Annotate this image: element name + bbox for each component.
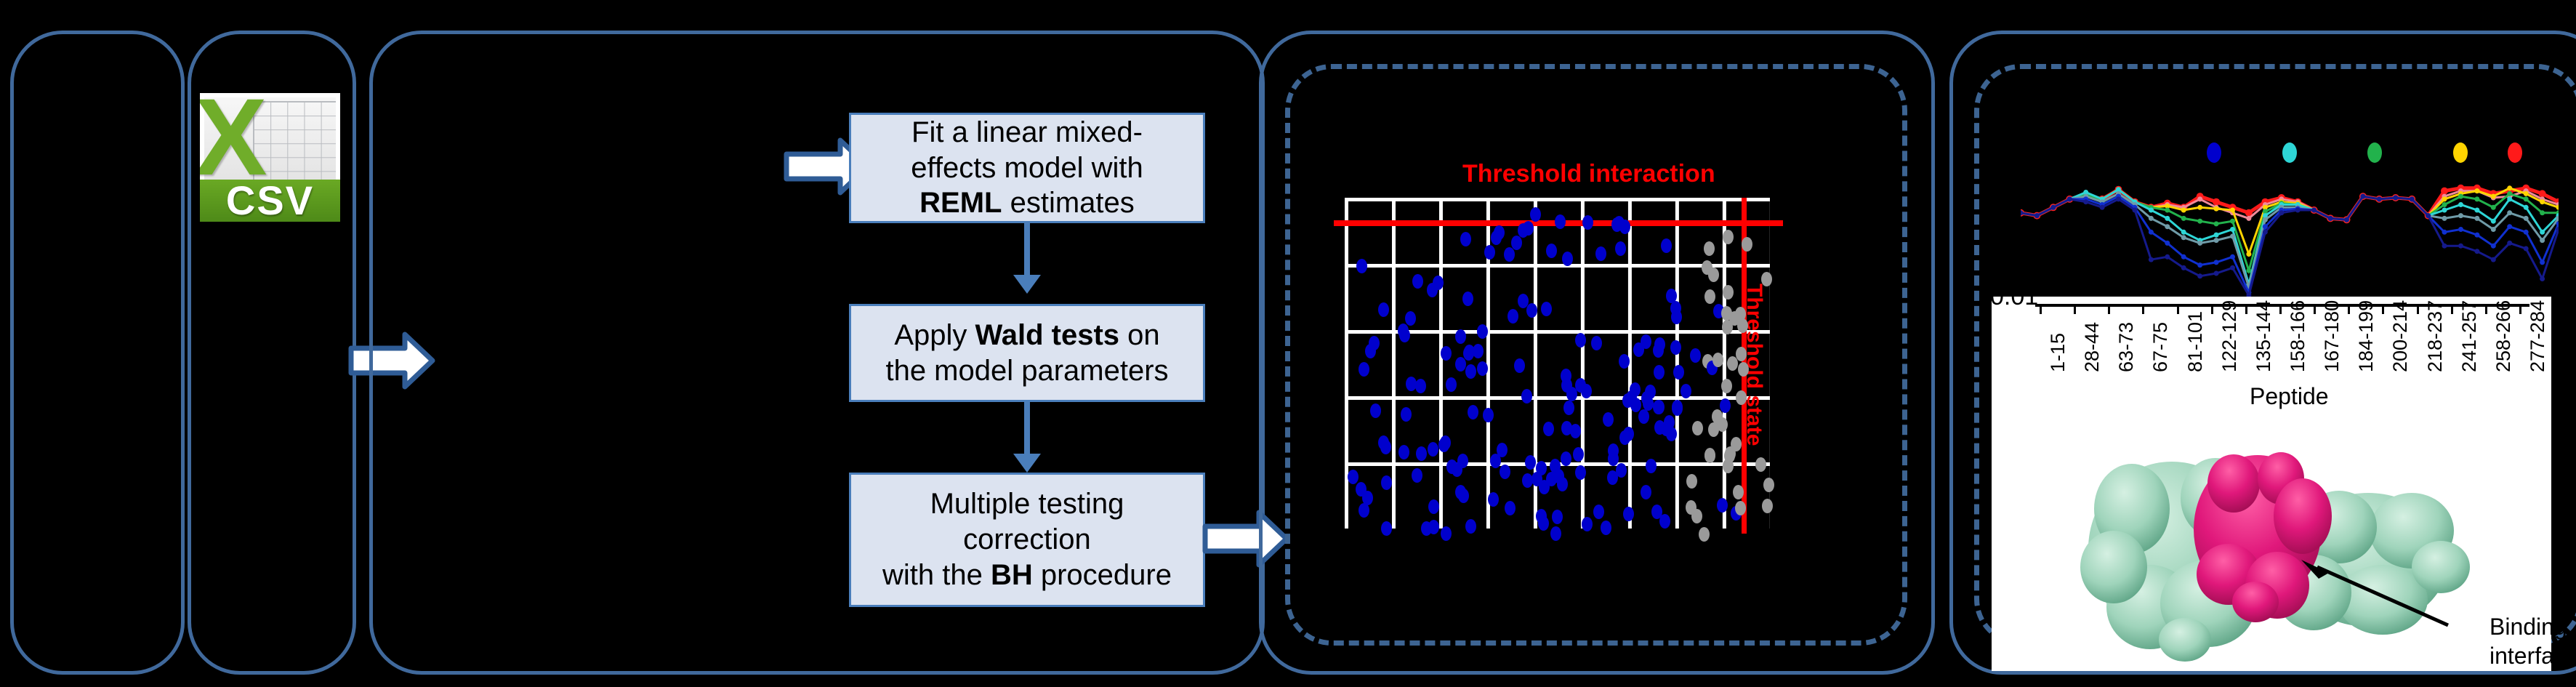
line-marker [2360,194,2365,199]
line-marker [2214,233,2219,238]
line-marker [2474,249,2479,254]
scatter-point [1458,489,1469,503]
scatter-point [1673,365,1684,379]
line-marker [2181,254,2186,260]
line-marker [2507,210,2512,215]
line-marker [2213,198,2220,206]
step-fit-model-box[interactable]: Fit a linear mixed- effects model with R… [849,113,1205,223]
scatter-point [1552,510,1563,524]
peptide-tick-label: 277-284 [2527,300,2549,372]
scatter-point [1691,509,1702,523]
line-marker [2230,219,2235,224]
scatter-point [1762,499,1773,513]
scatter-point [1681,384,1691,398]
line-marker [2230,254,2235,260]
x-axis-tick [2519,305,2521,314]
legend-dot-3 [2367,142,2382,163]
scatter-point [1623,507,1634,521]
scatter-point [1483,408,1494,422]
scatter-point [1573,447,1584,462]
scatter-point [1421,521,1432,536]
legend-dot-2 [2282,142,2297,163]
line-marker [2311,208,2317,213]
line-marker [2067,196,2072,201]
scatter-point [1704,289,1715,304]
line-marker [2474,188,2479,193]
line-marker [2426,213,2431,218]
line-marker [2263,230,2268,235]
x-axis-tick [2382,305,2384,314]
line-marker [2507,224,2512,229]
line-marker [2377,196,2382,201]
line-marker [2540,199,2545,204]
scatter-point [1661,238,1672,253]
line-marker [2524,205,2529,210]
line-marker [2458,194,2463,199]
x-axis-tick [2211,305,2213,314]
peptide-response-line-chart [2021,167,2559,298]
line-marker [2540,276,2545,281]
line-marker [2165,254,2170,260]
line-marker [2197,273,2202,278]
step3-line2: correction [963,523,1091,555]
x-axis-tick [2314,305,2316,314]
csv-file-icon: X CSV [200,93,340,222]
line-marker [2507,196,2512,201]
line-marker [2474,208,2479,213]
line-marker [2441,188,2448,195]
csv-label-text: CSV [226,177,314,222]
excel-x-glyph: X [204,97,257,177]
scatter-point [1654,400,1665,414]
scatter-point [1504,247,1515,262]
line-marker [2442,208,2447,213]
x-axis-tick [2245,305,2247,314]
scatter-point [1348,470,1359,484]
scatter-point [1446,377,1457,392]
line-marker [2507,185,2512,190]
line-marker [2116,196,2121,201]
x-axis-tick [2417,305,2419,314]
peptide-tick-label: 1-15 [2047,333,2069,372]
line-marker [2050,205,2056,210]
x-axis-tick [2142,305,2144,314]
line-marker [2474,233,2479,238]
peptide-tick-label: 241-257 [2458,300,2481,372]
line-marker [2181,230,2186,235]
line-marker [2458,244,2463,249]
binding-interface-line2: interface [2490,641,2576,670]
scatter-point [1455,329,1466,344]
scatter-point [1575,465,1586,480]
legend-dot-1 [2207,142,2221,163]
scatter-point [1643,396,1654,411]
scatter-point [1550,526,1561,541]
line-marker [2442,216,2447,221]
line-marker [2491,219,2496,224]
line-marker [2214,271,2219,276]
binding-interface-line1: Binding [2490,612,2576,641]
scatter-point [1523,221,1534,236]
scatter-point [1455,357,1466,371]
peptide-tick-label: 63-73 [2115,322,2138,372]
scatter-point [1646,459,1657,473]
scatter-point [1608,451,1619,466]
line-marker [2149,257,2154,262]
scatter-point [1699,527,1710,542]
x-axis-tick [2074,305,2076,314]
line-marker [2458,202,2463,207]
scatter-point [1731,437,1742,451]
scatter-point [1761,272,1772,286]
peptide-tick-label: 218-237 [2424,300,2447,372]
step2-pre: Apply [894,319,975,351]
peptide-tick-label: 67-75 [2149,322,2172,372]
scatter-point [1521,389,1532,403]
scatter-point [1505,501,1516,515]
line-marker [2442,196,2447,201]
scatter-point [1630,398,1641,412]
scatter-point [1712,353,1723,367]
scatter-point [1356,482,1367,497]
scatter-point [1441,526,1452,541]
scatter-point [1661,422,1672,436]
line-marker [2524,216,2529,221]
connector-1-head [1013,275,1041,294]
scatter-point [1463,346,1474,361]
step-wald-tests-text: Apply Wald tests on the model parameters [885,318,1168,389]
line-marker [2524,196,2529,201]
scatter-point [1653,343,1664,358]
line-marker [2410,196,2415,201]
line-marker [2100,205,2105,210]
legend-dot-5 [2508,142,2522,163]
y-axis-tick-label: 0.01 [1990,283,2038,311]
line-marker [2181,208,2186,213]
step3-line1: Multiple testing [930,488,1124,520]
line-marker [2165,208,2170,213]
line-marker [2474,196,2479,201]
line-marker [2491,194,2496,199]
line-marker [2491,244,2496,249]
step2-post: on [1119,319,1160,351]
line-marker [2279,210,2284,215]
connector-2-head [1013,454,1041,473]
line-marker [2393,196,2398,201]
line-marker [2442,244,2447,249]
legend-dot-4 [2453,142,2468,163]
line-marker [2474,216,2479,221]
threshold-scatter-plot: Threshold interaction Threshold state [1301,145,1897,596]
line-marker [2197,205,2202,210]
line-marker [2149,208,2154,213]
line-marker [2181,265,2186,270]
line-marker [2197,219,2202,224]
scatter-point [1518,294,1529,308]
line-marker [2149,230,2154,235]
scatter-point [1488,492,1499,507]
scatter-point [1720,398,1731,413]
line-marker [2181,235,2186,240]
scatter-point [1763,478,1774,492]
peptide-tick-label: 28-44 [2081,322,2104,372]
line-marker [2197,262,2202,268]
scatter-point [1416,446,1427,461]
scatter-point [1582,215,1593,230]
line-marker [2540,210,2545,215]
scatter-point [1735,501,1746,515]
scatter-point [1672,400,1683,414]
connector-2-line [1024,402,1030,457]
scatter-point [1638,409,1649,424]
scatter-point [1446,459,1457,474]
line-marker [2165,216,2170,221]
step2-line2: the model parameters [885,355,1168,387]
step-wald-tests-box[interactable]: Apply Wald tests on the model parameters [849,304,1205,402]
scatter-point [1603,412,1614,427]
scatter-point [1733,485,1744,499]
line-marker [2344,217,2349,222]
peptide-tick-label: 158-166 [2287,300,2309,372]
line-marker [2246,216,2251,221]
line-marker [2230,227,2235,232]
scatter-point [1356,259,1367,273]
scatter-point [1398,324,1409,338]
scatter-point [1582,517,1593,531]
scatter-point [1500,465,1510,479]
peptide-tick-label: 81-101 [2184,311,2207,372]
input-panel [10,31,185,675]
line-marker [2214,206,2219,212]
scatter-point [1561,451,1571,466]
line-marker [2540,238,2545,243]
scatter-point [1543,422,1554,436]
step1-line1: Fit a linear mixed- [911,116,1143,148]
connector-1-line [1024,223,1030,278]
scatter-point [1561,421,1572,435]
scatter-point [1704,241,1715,256]
line-marker [2491,257,2496,262]
line-marker [2540,230,2545,235]
scatter-point [1428,499,1439,514]
line-marker [2507,241,2512,246]
step-bh-correction-text: Multiple testing correction with the BH … [882,486,1172,592]
scatter-point [1460,232,1471,246]
x-axis-title: Peptide [2250,383,2329,410]
line-marker [2295,208,2301,213]
step1-line2: effects model with [911,152,1143,184]
protein-surface-render [2063,422,2499,662]
x-axis-tick [2108,305,2110,314]
line-marker [2524,246,2529,252]
scatter-point [1595,246,1606,261]
line-marker [2230,265,2235,270]
step-bh-correction-box[interactable]: Multiple testing correction with the BH … [849,473,1205,607]
scatter-point [1704,449,1715,463]
scatter-point [1468,405,1478,419]
scatter-point [1536,509,1547,523]
scatter-point [1550,459,1561,473]
binding-interface-annotation: Binding interface [2490,612,2576,670]
line-marker [2214,238,2219,243]
line-marker [2165,224,2170,229]
x-axis-tick [2348,305,2350,314]
x-axis-tick [2485,305,2487,314]
step3-bh: BH [991,559,1033,591]
scatter-point [1380,440,1391,454]
peptide-tick-label: 200-214 [2389,300,2412,372]
scatter-point [1546,244,1557,258]
csv-label-band: CSV [200,180,340,222]
line-marker [2524,191,2529,196]
line-marker [2133,208,2138,213]
scatter-point [1633,342,1644,357]
scatter-point [1441,346,1452,361]
step2-wald: Wald tests [975,319,1120,351]
line-marker [2328,216,2333,221]
line-marker [2442,202,2447,207]
line-marker [2539,190,2546,197]
scatter-point [1525,455,1536,470]
line-marker [2165,241,2170,246]
x-axis-tick [2451,305,2453,314]
threshold-interaction-label: Threshold interaction [1462,160,1715,188]
peptide-tick-label: 122-129 [2218,300,2241,372]
peptide-tick-label: 135-144 [2253,300,2275,372]
scatter-point [1659,514,1670,529]
line-marker [2230,208,2235,213]
scatter-point [1378,302,1389,317]
scatter-point [1427,283,1438,297]
line-marker [2181,216,2186,221]
x-axis-tick [2279,305,2282,314]
scatter-point [1555,214,1566,229]
scatter-point [1412,468,1422,483]
peptide-tick-label: 184-199 [2355,300,2378,372]
scatter-point [1381,521,1392,536]
step1-reml: REML [919,187,1002,219]
scatter-point [1477,361,1488,376]
scatter-point [1736,347,1747,361]
line-marker [2458,213,2463,218]
line-marker [2214,221,2219,226]
peptide-tick-label: 258-266 [2492,300,2515,372]
step1-line3-rest: estimates [1002,187,1135,219]
line-marker [2263,217,2268,222]
line-marker [2524,230,2529,235]
x-axis-tick [2040,305,2042,314]
scatter-point [1561,369,1571,383]
scatter-point [1601,521,1611,535]
scatter-point [1615,241,1626,256]
line-marker [2540,260,2545,265]
line-marker [2149,216,2154,221]
scatter-point [1465,519,1476,534]
scatter-point [1721,306,1732,321]
line-marker [2491,227,2496,232]
line-marker [2491,205,2496,210]
scatter-point [1494,225,1505,240]
scatter-point [1591,336,1602,350]
scatter-point [1619,430,1630,445]
figure-canvas: X CSV Fit a linear mixed- effects model … [0,0,2576,687]
step3-line3-post: procedure [1033,559,1172,591]
line-marker [2458,227,2463,232]
scatter-point [1616,463,1627,478]
line-marker [2442,230,2447,235]
step3-line3-pre: with the [882,559,991,591]
scatter-point [1562,252,1573,266]
scatter-point [1438,438,1449,452]
scatter-point [1702,260,1712,275]
line-marker [2197,196,2202,201]
scatter-point [1514,358,1525,373]
line-marker [2246,252,2251,257]
scatter-point [1473,344,1484,358]
line-marker [2230,234,2235,239]
step-fit-model-text: Fit a linear mixed- effects model with R… [911,115,1143,221]
scatter-point [1541,302,1552,316]
line-marker [2034,213,2040,218]
peptide-tick-label: 167-180 [2321,300,2343,372]
scatter-point [1398,445,1409,459]
line-marker [2507,191,2512,196]
scatter-point [1737,318,1748,333]
scatter-point [1666,289,1677,303]
scatter-point [1477,324,1488,339]
scatter-point [1575,378,1586,393]
line-marker [2197,241,2202,246]
x-axis-tick [2177,305,2179,314]
line-marker [2214,260,2219,265]
line-marker [2083,199,2088,204]
scatter-point [1462,292,1473,306]
